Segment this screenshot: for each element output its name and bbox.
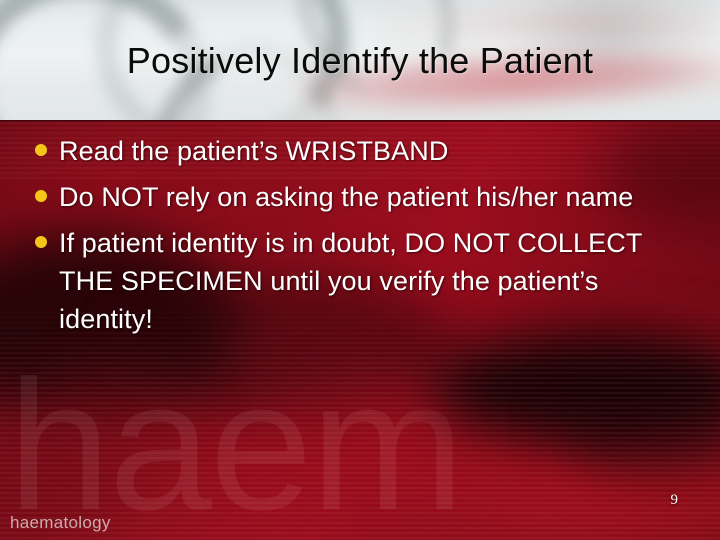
header-pink-blur-top xyxy=(380,0,720,40)
bullet-dot-icon xyxy=(35,144,47,156)
slide-content: Read the patient’s WRISTBAND Do NOT rely… xyxy=(0,122,720,540)
page-number: 9 xyxy=(671,492,679,509)
list-item: Read the patient’s WRISTBAND xyxy=(30,132,690,170)
slide-header: Positively Identify the Patient xyxy=(0,0,720,122)
page-title: Positively Identify the Patient xyxy=(0,40,720,82)
list-item: If patient identity is in doubt, DO NOT … xyxy=(30,224,690,338)
bullet-text: Read the patient’s WRISTBAND xyxy=(59,132,690,170)
bullet-dot-icon xyxy=(35,236,47,248)
bullet-text: Do NOT rely on asking the patient his/he… xyxy=(59,178,690,216)
bullet-text: If patient identity is in doubt, DO NOT … xyxy=(59,224,690,338)
bullet-dot-icon xyxy=(35,190,47,202)
bullet-list: Read the patient’s WRISTBAND Do NOT rely… xyxy=(30,132,690,346)
footer-brand-label: haematology xyxy=(10,513,111,533)
list-item: Do NOT rely on asking the patient his/he… xyxy=(30,178,690,216)
slide: Positively Identify the Patient haem Rea… xyxy=(0,0,720,540)
